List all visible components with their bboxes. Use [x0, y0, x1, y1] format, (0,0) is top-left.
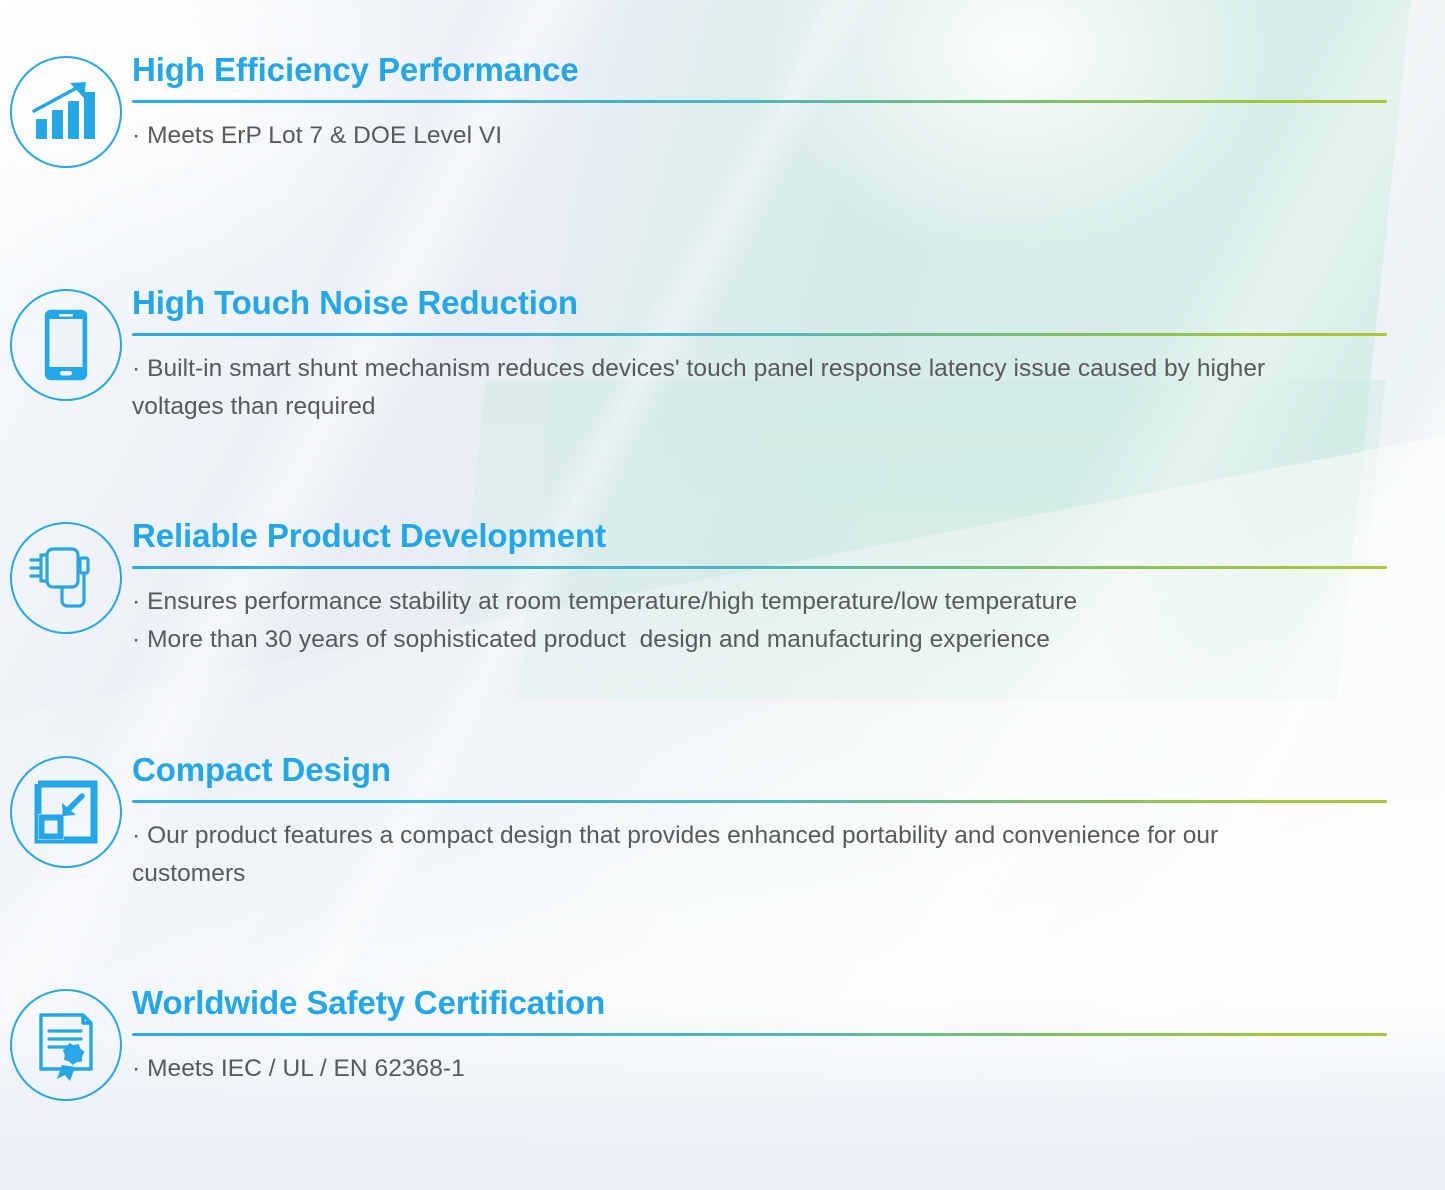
feature-title: Worldwide Safety Certification [132, 985, 1387, 1022]
feature-title: High Efficiency Performance [132, 52, 1387, 89]
feature-item: Worldwide Safety Certification · Meets I… [0, 985, 1445, 1101]
feature-divider [132, 333, 1387, 336]
feature-bullet: · Meets IEC / UL / EN 62368-1 [132, 1050, 1292, 1088]
feature-icon-container [0, 518, 132, 634]
feature-divider [132, 100, 1387, 103]
feature-bullet: · Ensures performance stability at room … [132, 583, 1387, 621]
feature-bullet: · Meets ErP Lot 7 & DOE Level VI [132, 117, 1292, 155]
feature-bullets: · Meets IEC / UL / EN 62368-1 [132, 1050, 1387, 1088]
feature-icon-container [0, 985, 132, 1101]
feature-list: High Efficiency Performance · Meets ErP … [0, 0, 1445, 1190]
feature-item: High Efficiency Performance · Meets ErP … [0, 52, 1445, 168]
feature-bullets: · Meets ErP Lot 7 & DOE Level VI [132, 117, 1387, 155]
feature-highlights-page: High Efficiency Performance · Meets ErP … [0, 0, 1445, 1190]
power-adapter-icon [10, 522, 122, 634]
feature-content: High Efficiency Performance · Meets ErP … [132, 52, 1445, 155]
feature-item: Reliable Product Development · Ensures p… [0, 518, 1445, 659]
feature-title: Compact Design [132, 752, 1387, 789]
feature-divider [132, 566, 1387, 569]
feature-bullets: · Ensures performance stability at room … [132, 583, 1387, 659]
feature-bullet: · Our product features a compact design … [132, 817, 1292, 893]
feature-icon-container [0, 752, 132, 868]
feature-bullets: · Our product features a compact design … [132, 817, 1387, 893]
feature-bullets: · Built-in smart shunt mechanism reduces… [132, 350, 1387, 426]
feature-title: High Touch Noise Reduction [132, 285, 1387, 322]
feature-bullet: · More than 30 years of sophisticated pr… [132, 621, 1387, 659]
feature-divider [132, 1033, 1387, 1036]
feature-content: High Touch Noise Reduction · Built-in sm… [132, 285, 1445, 426]
feature-title: Reliable Product Development [132, 518, 1387, 555]
certificate-seal-icon [10, 989, 122, 1101]
feature-content: Compact Design · Our product features a … [132, 752, 1445, 893]
feature-item: High Touch Noise Reduction · Built-in sm… [0, 285, 1445, 426]
feature-item: Compact Design · Our product features a … [0, 752, 1445, 893]
feature-icon-container [0, 52, 132, 168]
feature-divider [132, 800, 1387, 803]
feature-icon-container [0, 285, 132, 401]
feature-content: Worldwide Safety Certification · Meets I… [132, 985, 1445, 1088]
bar-chart-growth-icon [10, 56, 122, 168]
feature-content: Reliable Product Development · Ensures p… [132, 518, 1445, 659]
smartphone-icon [10, 289, 122, 401]
feature-bullet: · Built-in smart shunt mechanism reduces… [132, 350, 1292, 426]
compact-resize-icon [10, 756, 122, 868]
